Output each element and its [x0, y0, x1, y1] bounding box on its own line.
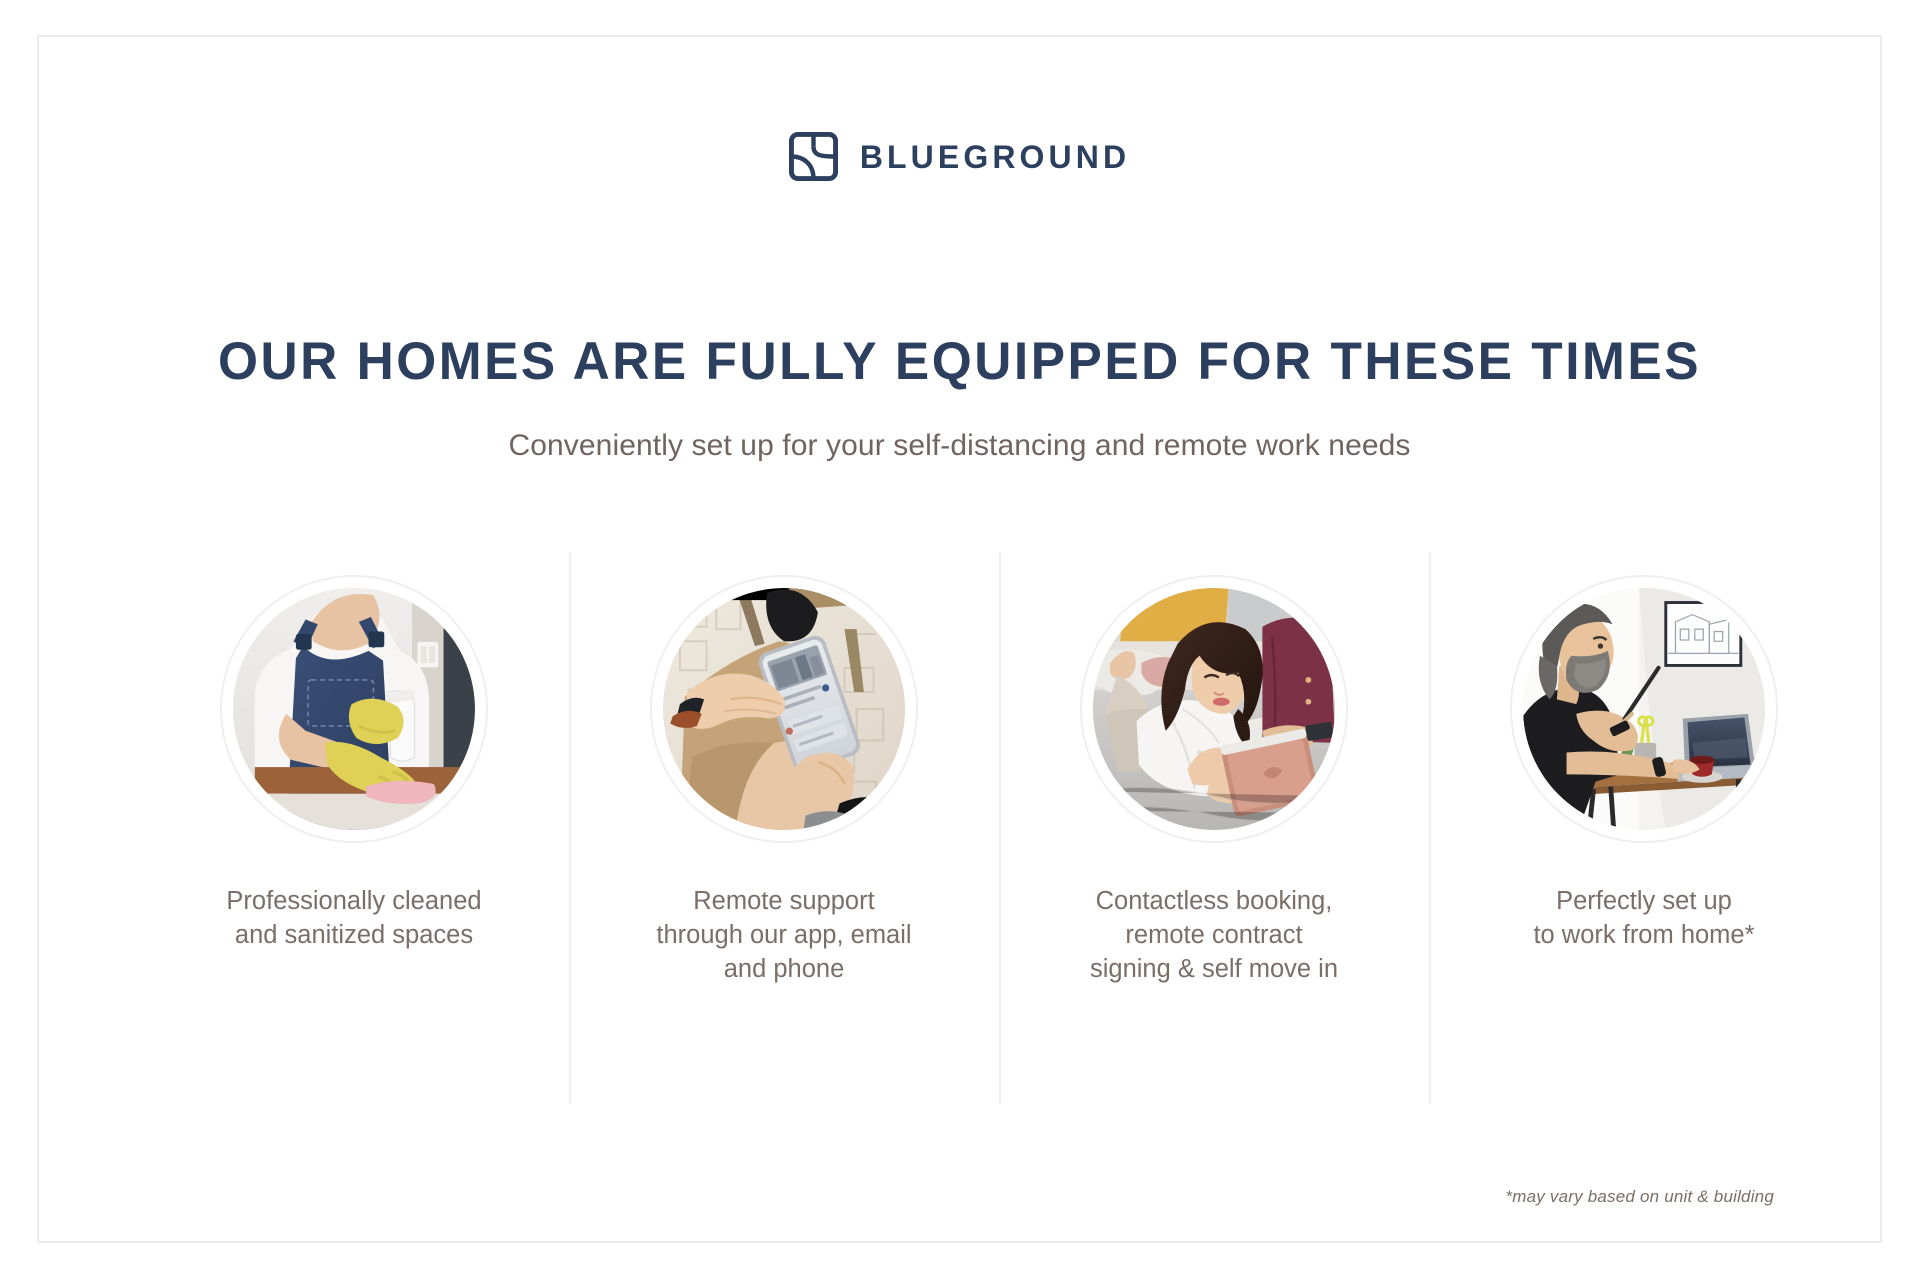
feature-caption: Remote supportthrough our app, emailand … [656, 885, 911, 987]
feature-column-cleaning: Professionally cleanedand sanitized spac… [139, 553, 569, 1104]
page-title: OUR HOMES ARE FULLY EQUIPPED FOR THESE T… [67, 331, 1853, 392]
photo-ring [650, 575, 918, 843]
feature-column-contactless-booking: Contactless booking,remote contractsigni… [999, 553, 1429, 1104]
feature-column-remote-support: Remote supportthrough our app, emailand … [569, 553, 999, 1104]
poster-card: BLUEGROUND OUR HOMES ARE FULLY EQUIPPED … [37, 35, 1882, 1243]
cleaning-person-photo [233, 588, 475, 830]
feature-caption: Professionally cleanedand sanitized spac… [226, 885, 481, 953]
footnote-disclaimer: *may vary based on unit & building [1505, 1187, 1774, 1207]
brand-lockup: BLUEGROUND [39, 132, 1880, 181]
work-from-home-photo [1523, 588, 1765, 830]
tablet-booking-photo [1093, 588, 1335, 830]
smartphone-app-photo [663, 588, 905, 830]
brand-wordmark: BLUEGROUND [860, 141, 1130, 173]
feature-caption: Perfectly set upto work from home* [1533, 885, 1754, 953]
page-subtitle: Conveniently set up for your self-distan… [39, 429, 1880, 463]
feature-column-work-from-home: Perfectly set upto work from home* [1429, 553, 1859, 1104]
poster-page: BLUEGROUND OUR HOMES ARE FULLY EQUIPPED … [0, 0, 1920, 1280]
feature-caption: Contactless booking,remote contractsigni… [1090, 885, 1338, 987]
photo-ring [1080, 575, 1348, 843]
photo-ring [220, 575, 488, 843]
photo-ring [1510, 575, 1778, 843]
blueground-square-mark-icon [789, 132, 838, 181]
feature-columns: Professionally cleanedand sanitized spac… [139, 553, 1859, 1104]
